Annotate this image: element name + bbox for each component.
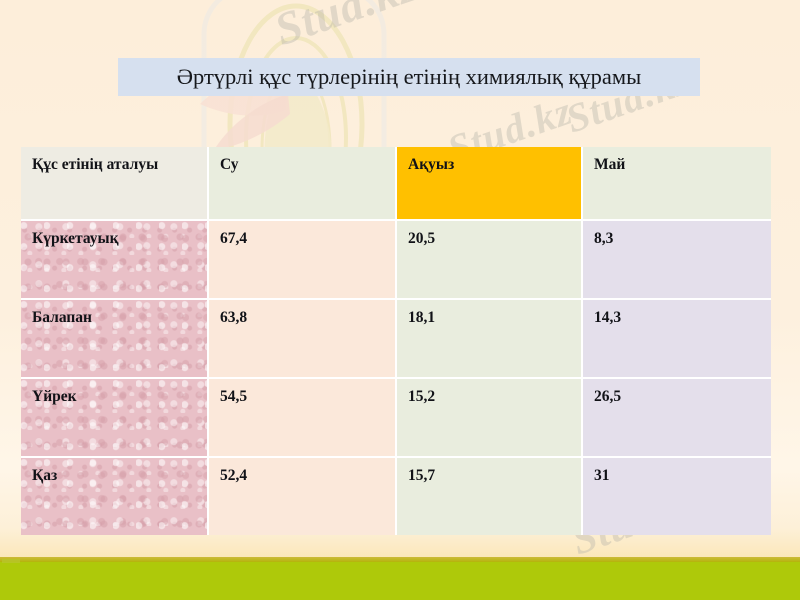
table-header-cell-water: Су [209, 147, 397, 221]
table-header-cell-fat: Май [583, 147, 771, 221]
cell-protein: 20,5 [397, 221, 583, 300]
table-row: Қаз 52,4 15,7 31 [21, 458, 771, 535]
presentation-slide: Stud.kz Stud.kz - Stud.kz Stud.kz - Stud… [0, 0, 800, 600]
cell-protein: 15,7 [397, 458, 583, 535]
bottom-green-band [0, 562, 800, 600]
table-header-cell-protein: Ақуыз [397, 147, 583, 221]
page-title: Әртүрлі құс түрлерінің етінің химиялық қ… [177, 64, 641, 90]
cell-bird-name: Күркетауық [21, 221, 209, 300]
cell-water: 67,4 [209, 221, 397, 300]
cell-water: 63,8 [209, 300, 397, 379]
watermark-stud-kz: Stud.kz [268, 0, 424, 56]
cell-bird-name: Балапан [21, 300, 209, 379]
table-row: Балапан 63,8 18,1 14,3 [21, 300, 771, 379]
cell-protein: 18,1 [397, 300, 583, 379]
table-header-row: Құс етінің аталуы Су Ақуыз Май [21, 147, 771, 221]
composition-table: Құс етінің аталуы Су Ақуыз Май Күркетауы… [21, 147, 771, 490]
table-header-cell-name: Құс етінің аталуы [21, 147, 209, 221]
table-row: Күркетауық 67,4 20,5 8,3 [21, 221, 771, 300]
bottom-band-accent [2, 559, 20, 563]
table-row: Үйрек 54,5 15,2 26,5 [21, 379, 771, 458]
cell-water: 54,5 [209, 379, 397, 458]
cell-fat: 31 [583, 458, 771, 535]
cell-bird-name: Үйрек [21, 379, 209, 458]
cell-fat: 26,5 [583, 379, 771, 458]
cell-protein: 15,2 [397, 379, 583, 458]
cell-fat: 8,3 [583, 221, 771, 300]
cell-water: 52,4 [209, 458, 397, 535]
cell-bird-name: Қаз [21, 458, 209, 535]
slide-title-band: Әртүрлі құс түрлерінің етінің химиялық қ… [118, 58, 700, 96]
cell-fat: 14,3 [583, 300, 771, 379]
